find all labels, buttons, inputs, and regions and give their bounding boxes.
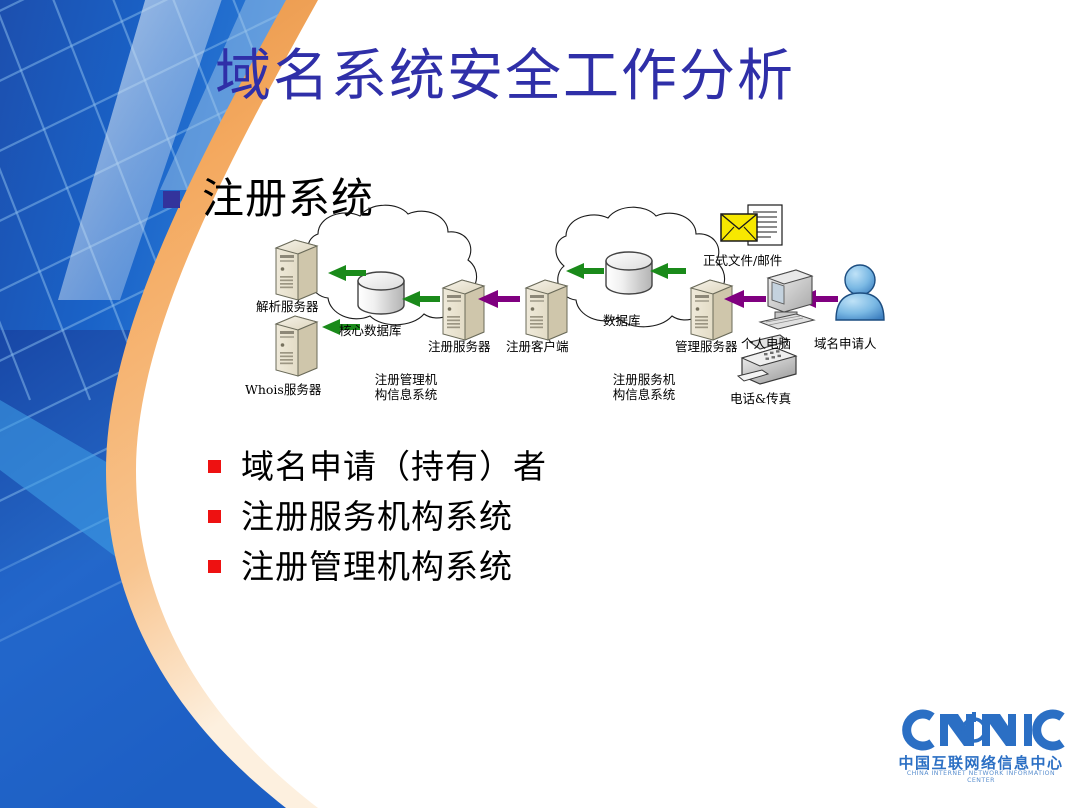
slide-canvas: 域名系统安全工作分析 注册系统	[0, 0, 1077, 808]
server-icon-registrar-client	[526, 280, 567, 340]
sub-bullet-label: 注册服务机构系统	[241, 500, 513, 533]
label-registry-server: 注册服务器	[428, 339, 491, 354]
sub-bullet-label: 域名申请（持有）者	[241, 450, 547, 483]
desktop-pc-icon	[760, 270, 814, 329]
list-item: 注册服务机构系统	[208, 500, 547, 533]
label-registrar-cloud: 注册服务机 构信息系统	[594, 372, 694, 403]
label-registrar-cloud-line2: 构信息系统	[594, 387, 694, 402]
person-icon	[836, 265, 884, 320]
server-icon-resolution	[276, 240, 317, 300]
label-registry-cloud-line1: 注册管理机	[356, 372, 456, 387]
bullet-square-icon	[163, 191, 180, 208]
label-core-database: 核心数据库	[339, 323, 402, 338]
diagram-graphic	[248, 196, 888, 421]
arrow-green-to-registrar-client	[566, 263, 604, 279]
registration-system-diagram: 解析服务器 Whois服务器 核心数据库 注册服务器 注册客户端 数据库 管理服…	[248, 196, 888, 421]
cnnic-wordmark-icon	[896, 708, 1066, 752]
arrow-green-to-db	[650, 263, 686, 279]
sub-bullet-label: 注册管理机构系统	[241, 550, 513, 583]
label-management-server: 管理服务器	[675, 339, 738, 354]
label-database: 数据库	[603, 313, 641, 328]
bullet-square-icon	[208, 560, 221, 573]
server-icon-registry	[443, 280, 484, 340]
label-whois-server: Whois服务器	[245, 382, 321, 397]
slide-title: 域名系统安全工作分析	[215, 46, 915, 109]
list-item: 注册管理机构系统	[208, 550, 547, 583]
label-registry-cloud: 注册管理机 构信息系统	[356, 372, 456, 403]
label-personal-computer: 个人电脑	[741, 336, 791, 351]
bullet-square-icon	[208, 510, 221, 523]
cnnic-english-name: CHINA INTERNET NETWORK INFORMATION CENTE…	[896, 770, 1066, 784]
label-registrar-client: 注册客户端	[506, 339, 569, 354]
server-icon-whois	[276, 316, 317, 376]
list-item: 域名申请（持有）者	[208, 450, 547, 483]
label-resolution-server: 解析服务器	[256, 299, 319, 314]
arrow-green-to-core-db	[402, 291, 440, 307]
cnnic-logo: 中国互联网络信息中心 CHINA INTERNET NETWORK INFORM…	[896, 708, 1066, 780]
envelope-document-icon	[721, 205, 782, 245]
bullet-square-icon	[208, 460, 221, 473]
label-domain-applicant: 域名申请人	[814, 336, 877, 351]
database-icon-db	[606, 252, 652, 294]
label-phone-fax: 电话&传真	[730, 391, 791, 406]
label-registrar-cloud-line1: 注册服务机	[594, 372, 694, 387]
label-registry-cloud-line2: 构信息系统	[356, 387, 456, 402]
sub-bullet-list: 域名申请（持有）者 注册服务机构系统 注册管理机构系统	[208, 450, 547, 600]
database-icon-core	[358, 272, 404, 314]
label-formal-document-mail: 正式文件/邮件	[703, 253, 782, 268]
server-icon-management	[691, 280, 732, 340]
